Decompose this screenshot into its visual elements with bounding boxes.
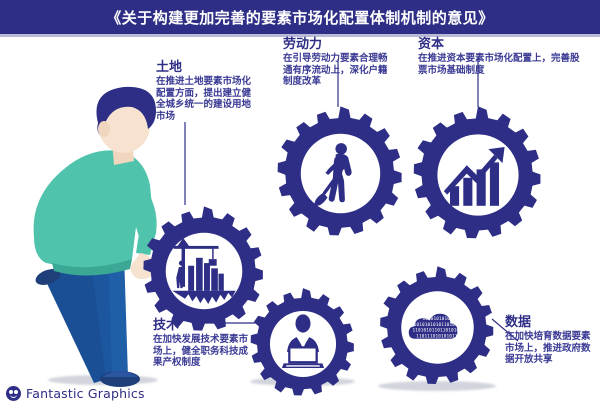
text-block-data: 数据 在加快培育数据要素市场上，推进政府数据开放共享: [505, 315, 597, 366]
heading-capital: 资本: [418, 37, 583, 52]
body-labor: 在引导劳动力要素合理畅通有序流动上，深化户籍制度改革: [283, 53, 393, 88]
brand-name: Fantastic Graphics: [26, 386, 145, 401]
page-title: 《关于构建更加完善的要素市场化配置体制机制的意见》: [106, 7, 494, 28]
heading-data: 数据: [505, 315, 597, 330]
owl-face-logo: [6, 386, 21, 401]
infographic-canvas: 《关于构建更加完善的要素市场化配置体制机制的意见》: [0, 0, 600, 405]
gear-data[interactable]: 10101010101 1010101010110101010 11010101…: [375, 265, 500, 390]
person-sweater: [34, 150, 155, 268]
footer-brand: Fantastic Graphics: [6, 386, 145, 401]
text-block-technology: 技术 在加快发展技术要素市场上，健全职务科技成果产权制度: [153, 318, 249, 369]
svg-text:10101010101: 10101010101: [423, 316, 453, 322]
gear-labor[interactable]: [272, 105, 409, 242]
svg-text:1010101010110101010: 1010101010110101010: [414, 322, 466, 328]
body-technology: 在加快发展技术要素市场上，健全职务科技成果产权制度: [153, 334, 249, 369]
title-bar: 《关于构建更加完善的要素市场化配置体制机制的意见》: [0, 0, 600, 34]
svg-text:110111010101011101: 110111010101011101: [416, 333, 466, 339]
gear-technology[interactable]: [246, 287, 360, 401]
heading-land: 土地: [156, 60, 252, 75]
person-ear: [98, 121, 110, 137]
body-capital: 在推进资本要素市场化配置上，完善股票市场基础制度: [418, 53, 583, 76]
body-land: 在推进土地要素市场化配置方面，提出建立健全城乡统一的建设用地市场: [156, 76, 252, 122]
heading-labor: 劳动力: [283, 37, 393, 52]
svg-text:11010101101101010110: 11010101101101010110: [413, 328, 468, 334]
body-data: 在加快培育数据要素市场上，推进政府数据开放共享: [505, 331, 597, 366]
heading-technology: 技术: [153, 318, 249, 333]
gear-capital[interactable]: [408, 105, 548, 245]
text-block-land: 土地 在推进土地要素市场化配置方面，提出建立健全城乡统一的建设用地市场: [156, 60, 252, 122]
text-block-labor: 劳动力 在引导劳动力要素合理畅通有序流动上，深化户籍制度改革: [283, 37, 393, 88]
text-block-capital: 资本 在推进资本要素市场化配置上，完善股票市场基础制度: [418, 37, 583, 76]
